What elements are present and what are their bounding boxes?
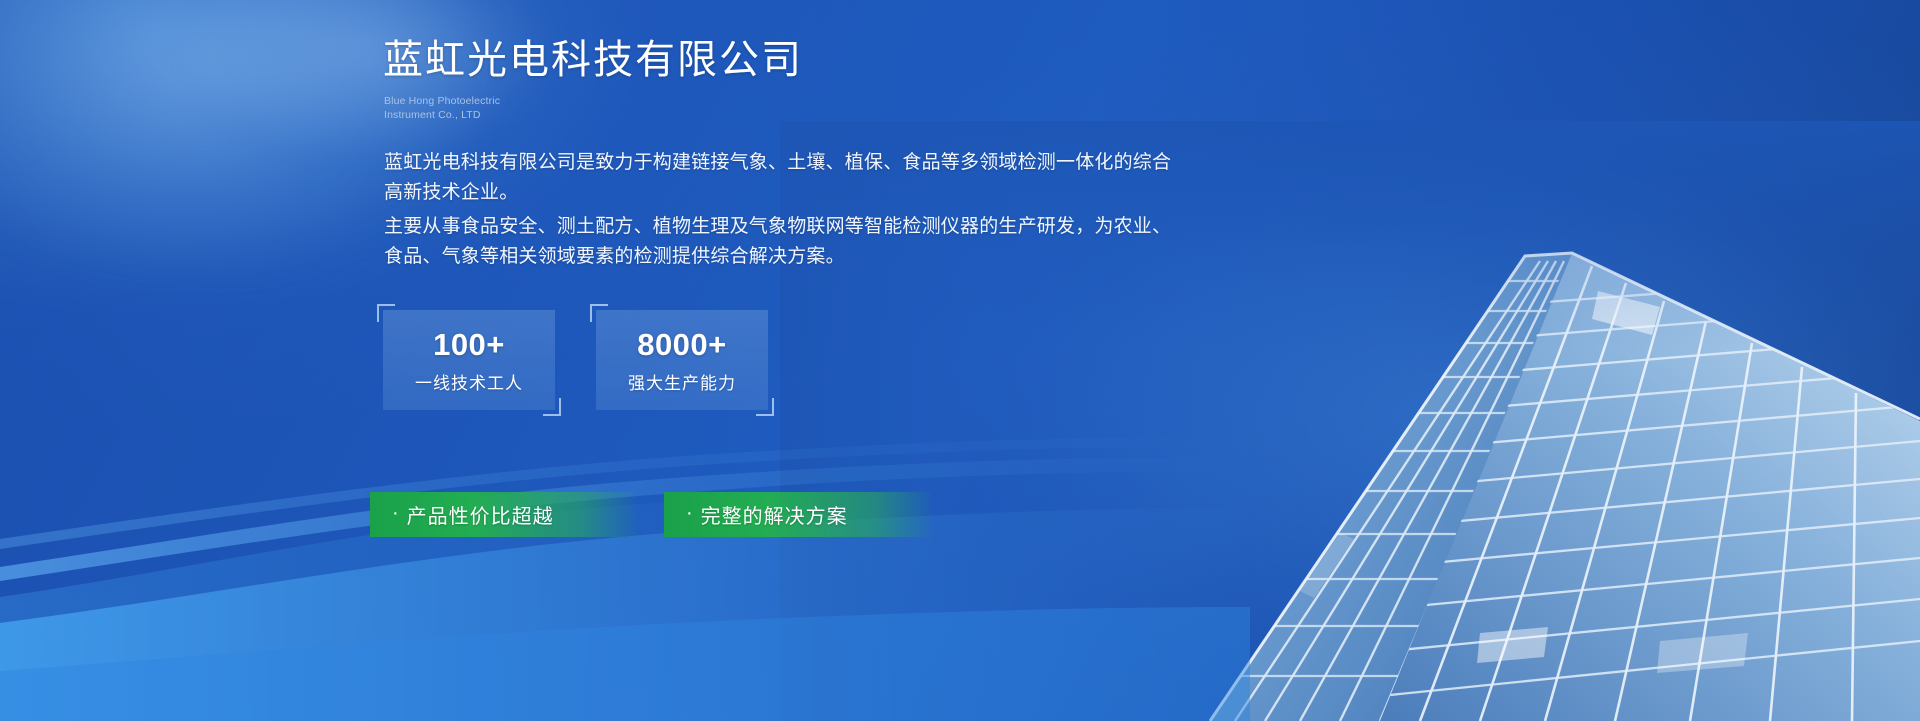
- intro-paragraph-1: 蓝虹光电科技有限公司是致力于构建链接气象、土壤、植保、食品等多领域检测一体化的综…: [384, 148, 1184, 208]
- intro-paragraph-2: 主要从事食品安全、测土配方、植物生理及气象物联网等智能检测仪器的生产研发，为农业…: [384, 212, 1184, 272]
- feature-tag: · 完整的解决方案: [664, 492, 934, 537]
- corner-accent-bottom-right-icon: [543, 398, 561, 416]
- feature-tag: · 产品性价比超越: [370, 492, 640, 537]
- stat-label: 一线技术工人: [415, 375, 523, 392]
- hero-content: 蓝虹光电科技有限公司 Blue Hong Photoelectric Instr…: [383, 0, 1583, 721]
- subtitle-line-1: Blue Hong Photoelectric: [384, 94, 500, 108]
- subtitle-line-2: Instrument Co., LTD: [384, 108, 500, 122]
- stat-value: 8000+: [637, 329, 727, 360]
- bullet-dot-icon: ·: [392, 503, 399, 523]
- company-subtitle-english: Blue Hong Photoelectric Instrument Co., …: [384, 94, 500, 122]
- corner-accent-bottom-right-icon: [756, 398, 774, 416]
- feature-tag-list: · 产品性价比超越 · 完整的解决方案: [370, 492, 934, 537]
- feature-tag-label: 完整的解决方案: [701, 500, 848, 529]
- stat-value: 100+: [433, 329, 505, 360]
- stat-label: 强大生产能力: [628, 375, 736, 392]
- stat-list: 100+ 一线技术工人 8000+ 强大生产能力: [383, 310, 768, 410]
- hero-banner: 蓝虹光电科技有限公司 Blue Hong Photoelectric Instr…: [0, 0, 1920, 721]
- corner-accent-top-left-icon: [377, 304, 395, 322]
- corner-accent-top-left-icon: [590, 304, 608, 322]
- bullet-dot-icon: ·: [686, 503, 693, 523]
- stat-card: 8000+ 强大生产能力: [596, 310, 768, 410]
- stat-card: 100+ 一线技术工人: [383, 310, 555, 410]
- page-title: 蓝虹光电科技有限公司: [383, 38, 803, 82]
- feature-tag-label: 产品性价比超越: [407, 500, 554, 529]
